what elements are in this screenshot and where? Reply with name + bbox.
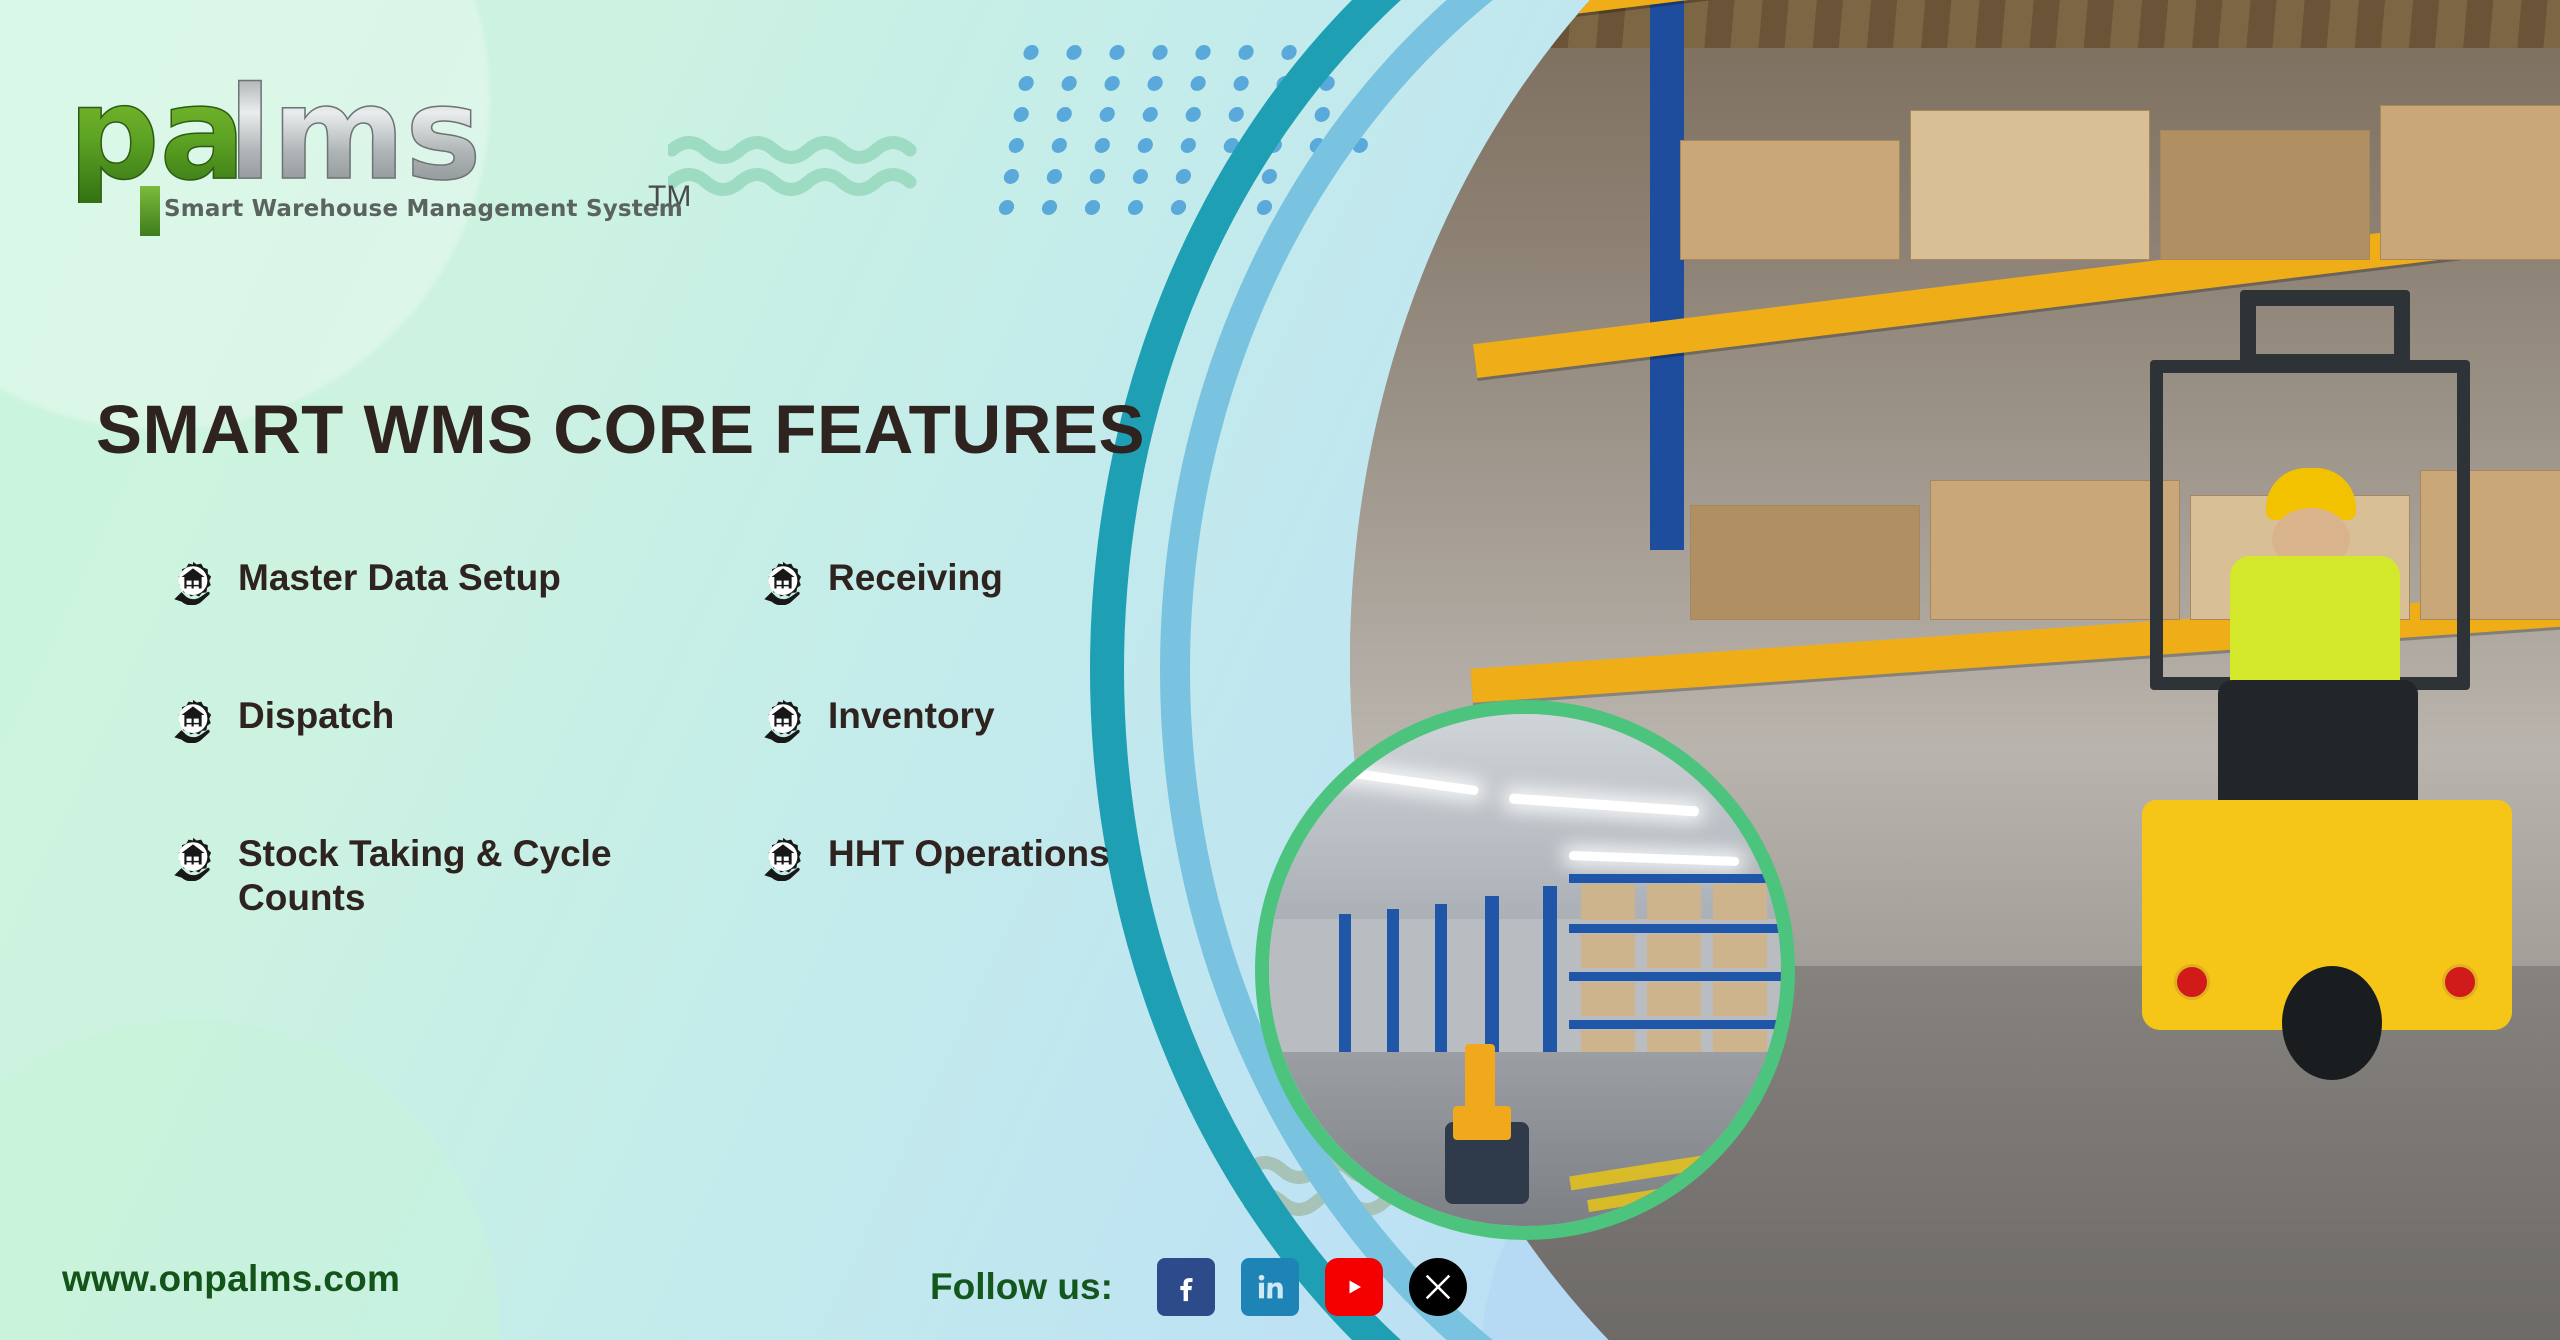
feature-item-stock-taking-cycle-counts[interactable]: Stock Taking & Cycle Counts [170, 832, 760, 921]
logo-text-lms: lms [228, 78, 481, 203]
secondary-warehouse-aisle-photo [1255, 700, 1795, 1240]
x-twitter-icon[interactable] [1409, 1258, 1467, 1316]
linkedin-icon[interactable] [1241, 1258, 1299, 1316]
feature-item-inventory[interactable]: Inventory [760, 694, 1210, 748]
marketing-banner: pa lms TM Smart Warehouse Management Sys… [0, 0, 2560, 1340]
warehouse-gear-hand-icon [760, 697, 806, 748]
facebook-icon[interactable] [1157, 1258, 1215, 1316]
warehouse-gear-hand-icon [170, 697, 216, 748]
warehouse-gear-hand-icon [170, 559, 216, 610]
feature-item-dispatch[interactable]: Dispatch [170, 694, 760, 748]
logo-wordmark: pa lms [68, 78, 628, 198]
youtube-icon[interactable] [1325, 1258, 1383, 1316]
warehouse-gear-hand-icon [170, 835, 216, 886]
warehouse-gear-hand-icon [760, 559, 806, 610]
right-side-artwork [1240, 0, 2560, 1340]
logo-svg: pa lms [68, 78, 688, 203]
page-title: SMART WMS CORE FEATURES [96, 390, 1145, 469]
website-url[interactable]: www.onpalms.com [62, 1258, 400, 1300]
feature-label: Receiving [828, 556, 1003, 600]
feature-label: Stock Taking & Cycle Counts [238, 832, 668, 921]
feature-label: HHT Operations [828, 832, 1110, 876]
forklift-illustration [2090, 360, 2550, 1080]
feature-label: Master Data Setup [238, 556, 561, 600]
feature-label: Inventory [828, 694, 995, 738]
feature-item-receiving[interactable]: Receiving [760, 556, 1210, 610]
warehouse-gear-hand-icon [760, 835, 806, 886]
feature-list: Master Data Setup Receiving [170, 556, 1210, 921]
follow-us-label: Follow us: [930, 1266, 1113, 1308]
feature-item-master-data-setup[interactable]: Master Data Setup [170, 556, 760, 610]
wavy-lines-top-decoration [668, 132, 938, 207]
palms-logo[interactable]: pa lms TM Smart Warehouse Management Sys… [68, 78, 628, 198]
logo-text-pa: pa [68, 78, 246, 203]
follow-us-section: Follow us: [930, 1258, 1467, 1316]
logo-accent-bar [140, 186, 160, 236]
logo-tagline: Smart Warehouse Management System [164, 196, 683, 222]
feature-label: Dispatch [238, 694, 394, 738]
feature-item-hht-operations[interactable]: HHT Operations [760, 832, 1210, 921]
